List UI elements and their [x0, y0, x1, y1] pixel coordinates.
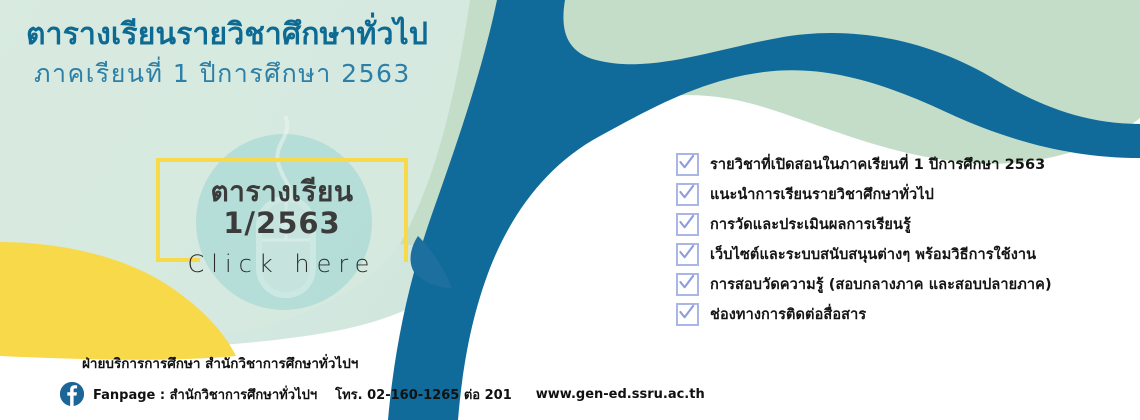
website-url[interactable]: www.gen-ed.ssru.ac.th — [536, 387, 705, 402]
topics-checklist: รายวิชาที่เปิดสอนในภาคเรียนที่ 1 ปีการศึ… — [676, 150, 1052, 330]
list-item[interactable]: การสอบวัดความรู้ (สอบกลางภาค และสอบปลายภ… — [676, 270, 1052, 299]
list-item-label: แนะนำการเรียนรายวิชาศึกษาทั่วไป — [710, 183, 934, 206]
page-title: ตารางเรียนรายวิชาศึกษาทั่วไป — [26, 16, 428, 54]
checkbox-checked-icon[interactable] — [676, 183, 699, 206]
banner-footer: ฝ่ายบริการการศึกษา สำนักวิชาการศึกษาทั่ว… — [82, 352, 705, 406]
checkbox-checked-icon[interactable] — [676, 243, 699, 266]
schedule-click-here-card[interactable]: ตารางเรียน 1/2563 Click here — [156, 158, 408, 262]
list-item-label: เว็บไซต์และระบบสนับสนุนต่างๆ พร้อมวิธีกา… — [710, 243, 1036, 266]
list-item[interactable]: การวัดและประเมินผลการเรียนรู้ — [676, 210, 1052, 239]
contact-row: Fanpage : สำนักวิชาการศึกษาทั่วไปฯ โทร. … — [82, 382, 705, 406]
list-item-label: ช่องทางการติดต่อสื่อสาร — [710, 303, 866, 326]
list-item-label: การวัดและประเมินผลการเรียนรู้ — [710, 213, 911, 236]
checkbox-checked-icon[interactable] — [676, 273, 699, 296]
list-item-label: รายวิชาที่เปิดสอนในภาคเรียนที่ 1 ปีการศึ… — [710, 153, 1045, 176]
list-item[interactable]: รายวิชาที่เปิดสอนในภาคเรียนที่ 1 ปีการศึ… — [676, 150, 1052, 179]
card-term-line: 1/2563 — [156, 206, 408, 240]
checkbox-checked-icon[interactable] — [676, 303, 699, 326]
list-item[interactable]: เว็บไซต์และระบบสนับสนุนต่างๆ พร้อมวิธีกา… — [676, 240, 1052, 269]
page-subtitle: ภาคเรียนที่ 1 ปีการศึกษา 2563 — [34, 58, 428, 91]
phone-text: โทร. 02-160-1265 ต่อ 201 — [335, 384, 512, 405]
fanpage-text[interactable]: Fanpage : สำนักวิชาการศึกษาทั่วไปฯ — [93, 384, 317, 405]
list-item-label: การสอบวัดความรู้ (สอบกลางภาค และสอบปลายภ… — [710, 273, 1052, 296]
facebook-icon[interactable] — [60, 382, 84, 406]
frame-top-rail — [156, 158, 408, 162]
checkbox-checked-icon[interactable] — [676, 213, 699, 236]
list-item[interactable]: แนะนำการเรียนรายวิชาศึกษาทั่วไป — [676, 180, 1052, 209]
list-item[interactable]: ช่องทางการติดต่อสื่อสาร — [676, 300, 1052, 329]
department-name: ฝ่ายบริการการศึกษา สำนักวิชาการศึกษาทั่ว… — [82, 352, 705, 374]
card-click-here-label[interactable]: Click here — [156, 250, 408, 278]
banner-heading: ตารางเรียนรายวิชาศึกษาทั่วไป ภาคเรียนที่… — [26, 16, 428, 90]
promotional-banner: ตารางเรียนรายวิชาศึกษาทั่วไป ภาคเรียนที่… — [0, 0, 1140, 420]
checkbox-checked-icon[interactable] — [676, 153, 699, 176]
